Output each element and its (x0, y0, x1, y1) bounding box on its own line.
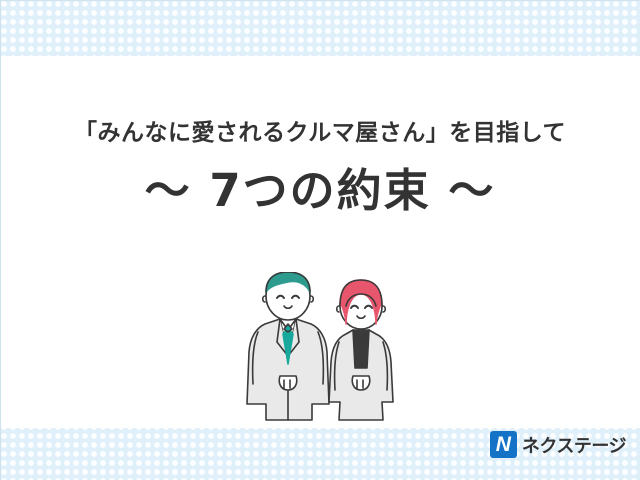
headline-title: 〜 7つの約束 〜 (0, 164, 640, 218)
promotional-banner: 「みんなに愛されるクルマ屋さん」を目指して 〜 7つの約束 〜 (0, 0, 640, 480)
headline-block: 「みんなに愛されるクルマ屋さん」を目指して 〜 7つの約束 〜 (0, 118, 640, 218)
female-staff-figure (329, 280, 393, 420)
headline-subtitle: 「みんなに愛されるクルマ屋さん」を目指して (0, 118, 640, 148)
male-staff-figure (247, 272, 329, 420)
logo-mark-icon: N (490, 431, 517, 458)
logo-mark-letter: N (490, 431, 517, 458)
logo-text: ネクステージ (522, 432, 626, 458)
two-staff-members-bowing-illustration (236, 272, 406, 424)
nextage-logo: N ネクステージ (490, 431, 626, 458)
